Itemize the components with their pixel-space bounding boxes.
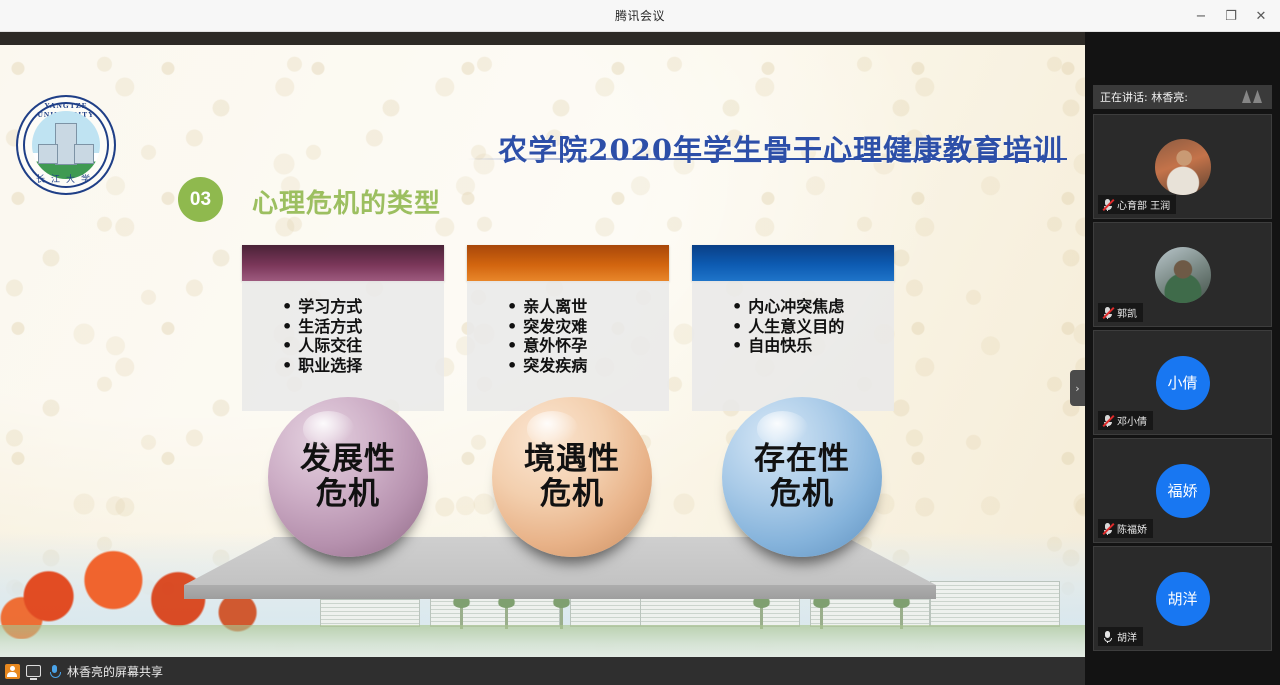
logo-building-right-icon — [74, 144, 94, 164]
screen-share-icon — [25, 663, 41, 679]
participant-name: 胡洋 — [1117, 629, 1137, 644]
share-status-label: 林香亮的屏幕共享 — [67, 663, 163, 680]
slide-header-title: 农学院2020年学生骨干心理健康教育培训 — [498, 127, 1063, 169]
crisis-card-1-body: 学习方式 生活方式 人际交往 职业选择 — [242, 281, 444, 411]
participant-label: 心育部 王润 — [1098, 195, 1176, 214]
list-item: 人际交往 — [282, 336, 444, 356]
active-speaker-label: 正在讲话: 林香亮: — [1100, 89, 1188, 105]
crisis-sphere-3-label-line2: 危机 — [754, 477, 850, 512]
crisis-card-3-body: 内心冲突焦虑 人生意义目的 自由快乐 — [692, 281, 894, 411]
share-status-bar: 林香亮的屏幕共享 — [0, 657, 1085, 685]
crisis-card-2-header — [467, 245, 669, 281]
meeting-stage: YANGTZE UNIVERSITY 长江大学 农学院2020年学生骨干心理健康… — [0, 32, 1280, 685]
section-title: 心理危机的类型 — [252, 183, 441, 220]
list-item: 生活方式 — [282, 317, 444, 337]
platform-edge — [184, 585, 936, 599]
participant-tile[interactable]: 小倩 邓小倩 — [1093, 330, 1272, 435]
campus-building — [320, 599, 420, 627]
minimize-icon[interactable]: − — [1186, 3, 1216, 29]
active-speaker-banner: 正在讲话: 林香亮: — [1093, 85, 1272, 109]
participant-tile[interactable]: 胡洋 胡洋 — [1093, 546, 1272, 651]
avatar: 福娇 — [1156, 464, 1210, 518]
logo-emblem-icon — [32, 111, 100, 179]
list-item: 自由快乐 — [732, 336, 894, 356]
logo-building-left-icon — [38, 144, 58, 164]
crisis-card-3-header — [692, 245, 894, 281]
participant-label: 邓小倩 — [1098, 411, 1153, 430]
participant-tile[interactable]: 心育部 王润 — [1093, 114, 1272, 219]
avatar: 小倩 — [1156, 356, 1210, 410]
avatar — [1155, 247, 1211, 303]
list-item: 人生意义目的 — [732, 317, 894, 337]
crisis-sphere-3: 存在性 危机 — [722, 397, 882, 557]
participant-label: 陈福娇 — [1098, 519, 1153, 538]
participant-label: 郭凯 — [1098, 303, 1143, 322]
list-item: 突发灾难 — [507, 317, 669, 337]
crisis-sphere-2-label-line2: 危机 — [524, 477, 620, 512]
campus-building — [930, 581, 1060, 627]
microphone-muted-icon — [1102, 306, 1113, 319]
avatar: 胡洋 — [1156, 572, 1210, 626]
participant-name: 郭凯 — [1117, 305, 1137, 320]
crisis-card-2-body: 亲人离世 突发灾难 意外怀孕 突发疾病 — [467, 281, 669, 411]
shared-screen-letterbox — [0, 32, 1085, 45]
microphone-muted-icon — [1102, 198, 1113, 211]
window-title-bar: 腾讯会议 − ❐ ✕ — [0, 0, 1280, 32]
microphone-icon[interactable] — [46, 663, 62, 679]
participant-tile[interactable]: 福娇 陈福娇 — [1093, 438, 1272, 543]
slide-header-rule — [467, 158, 1067, 160]
restore-icon[interactable]: ❐ — [1216, 3, 1246, 29]
chevron-right-icon[interactable]: › — [1070, 370, 1085, 406]
list-item: 亲人离世 — [507, 297, 669, 317]
microphone-muted-icon — [1102, 414, 1113, 427]
university-logo: YANGTZE UNIVERSITY 长江大学 — [16, 95, 116, 195]
crisis-sphere-2: 境遇性 危机 — [492, 397, 652, 557]
presentation-slide: YANGTZE UNIVERSITY 长江大学 农学院2020年学生骨干心理健康… — [0, 45, 1085, 657]
window-controls: − ❐ ✕ — [1186, 0, 1276, 32]
person-icon — [4, 663, 20, 679]
crisis-card-1: 学习方式 生活方式 人际交往 职业选择 — [242, 245, 444, 411]
participant-name: 陈福娇 — [1117, 521, 1147, 536]
campus-grass — [0, 625, 1085, 657]
crisis-card-1-header — [242, 245, 444, 281]
participant-tile[interactable]: 郭凯 — [1093, 222, 1272, 327]
crisis-card-3: 内心冲突焦虑 人生意义目的 自由快乐 — [692, 245, 894, 411]
list-item: 学习方式 — [282, 297, 444, 317]
crisis-card-2: 亲人离世 突发灾难 意外怀孕 突发疾病 — [467, 245, 669, 411]
list-item: 职业选择 — [282, 356, 444, 376]
crisis-sphere-1-label-line1: 发展性 — [300, 442, 396, 477]
close-icon[interactable]: ✕ — [1246, 3, 1276, 29]
list-item: 意外怀孕 — [507, 336, 669, 356]
audio-wave-icon — [1242, 90, 1262, 103]
participant-rail: 正在讲话: 林香亮: 心育部 王润 郭凯 小倩 — [1085, 32, 1280, 685]
crisis-sphere-1-label-line2: 危机 — [300, 477, 396, 512]
logo-chinese-text: 长江大学 — [18, 172, 114, 185]
microphone-icon — [1102, 630, 1113, 643]
window-title: 腾讯会议 — [615, 7, 665, 24]
shared-screen-area[interactable]: YANGTZE UNIVERSITY 长江大学 农学院2020年学生骨干心理健康… — [0, 32, 1085, 657]
microphone-muted-icon — [1102, 522, 1113, 535]
list-item: 内心冲突焦虑 — [732, 297, 894, 317]
avatar — [1155, 139, 1211, 195]
crisis-sphere-3-label-line1: 存在性 — [754, 442, 850, 477]
participant-label: 胡洋 — [1098, 627, 1143, 646]
crisis-sphere-2-label-line1: 境遇性 — [524, 442, 620, 477]
list-item: 突发疾病 — [507, 356, 669, 376]
section-number-badge: 03 — [178, 177, 223, 222]
participant-name: 心育部 王润 — [1117, 197, 1170, 212]
crisis-sphere-1: 发展性 危机 — [268, 397, 428, 557]
participant-name: 邓小倩 — [1117, 413, 1147, 428]
